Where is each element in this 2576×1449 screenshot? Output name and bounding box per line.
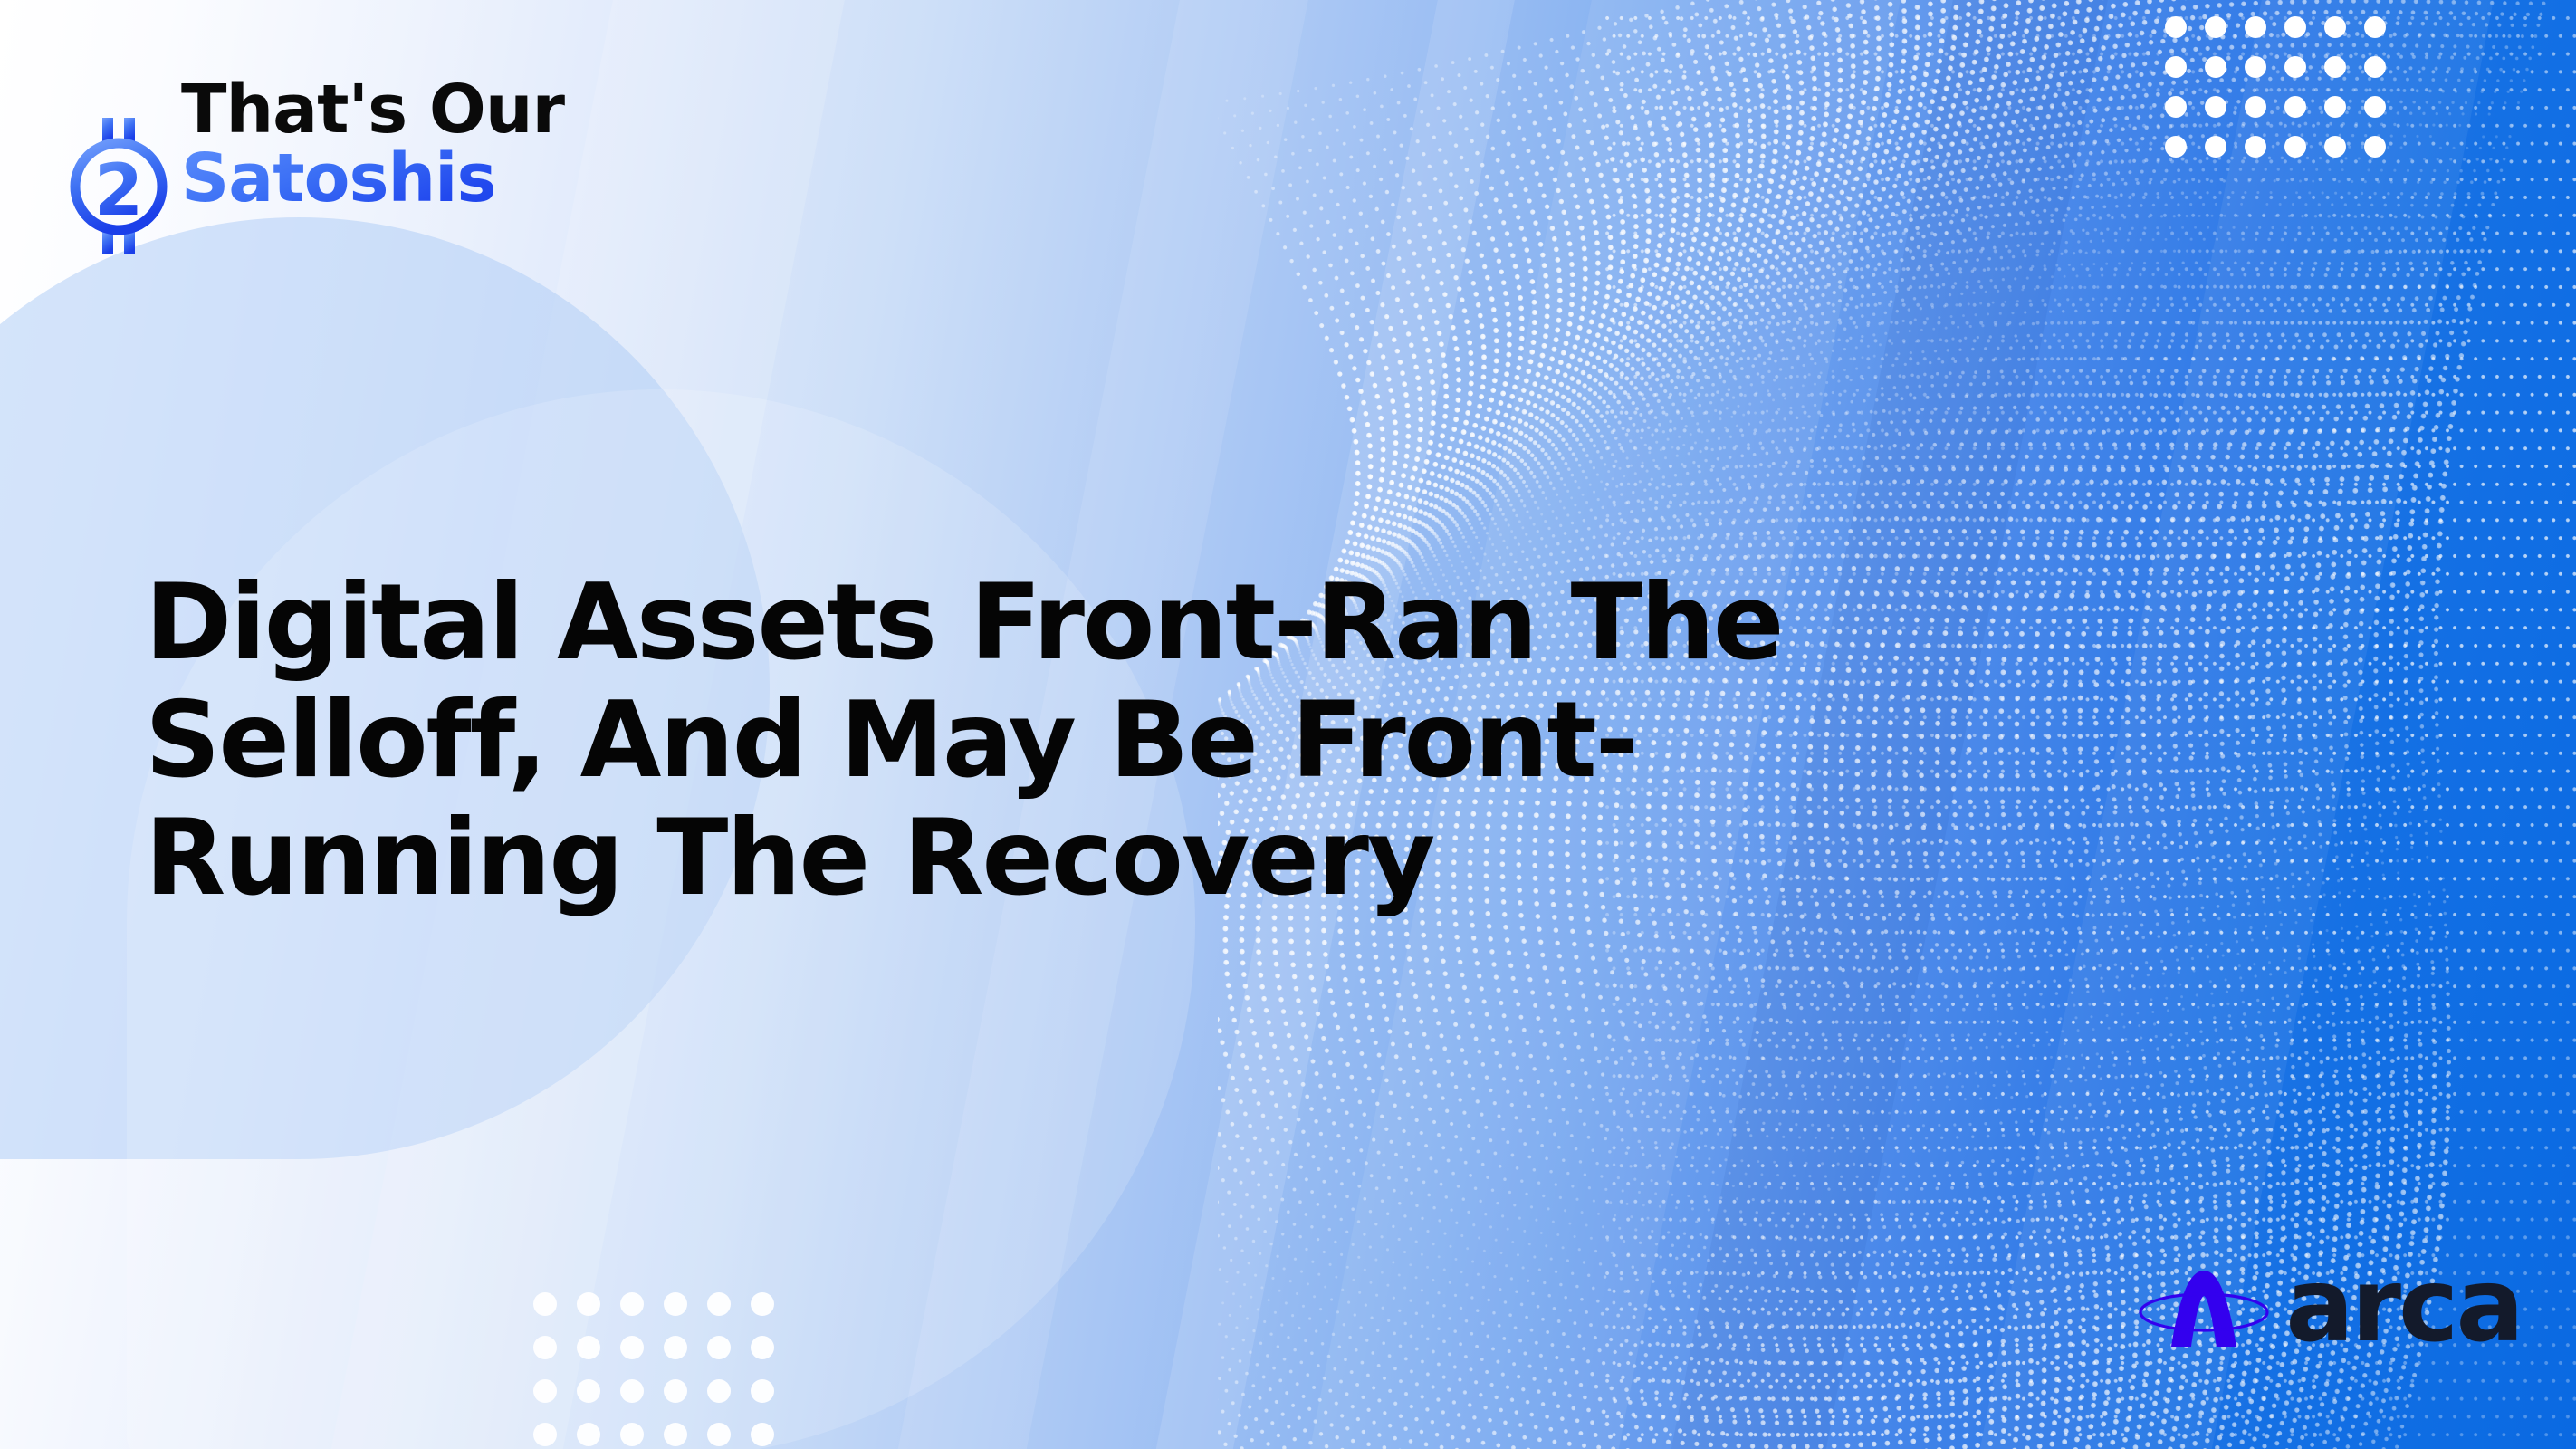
headline-line-2: Selloff, And May Be Front- <box>145 682 2218 800</box>
bitcoin-two-icon: 2 <box>67 118 174 254</box>
arca-logo[interactable]: arca <box>2135 1255 2522 1362</box>
headline: Digital Assets Front-Ran The Selloff, An… <box>145 564 2218 917</box>
podcast-logo-line1: That's Our <box>181 78 564 141</box>
background-blob-highlight <box>127 389 1195 1449</box>
podcast-logo[interactable]: 2 That's Our Satoshis <box>67 78 564 254</box>
social-card-canvas: 2 That's Our Satoshis Digital Assets Fro… <box>0 0 2576 1449</box>
headline-line-1: Digital Assets Front-Ran The <box>145 564 2218 682</box>
arca-arch-orbit-icon <box>2135 1265 2273 1352</box>
podcast-logo-line2: Satoshis <box>181 147 564 210</box>
arca-wordmark: arca <box>2285 1255 2522 1357</box>
headline-line-3: Running The Recovery <box>145 800 2218 917</box>
